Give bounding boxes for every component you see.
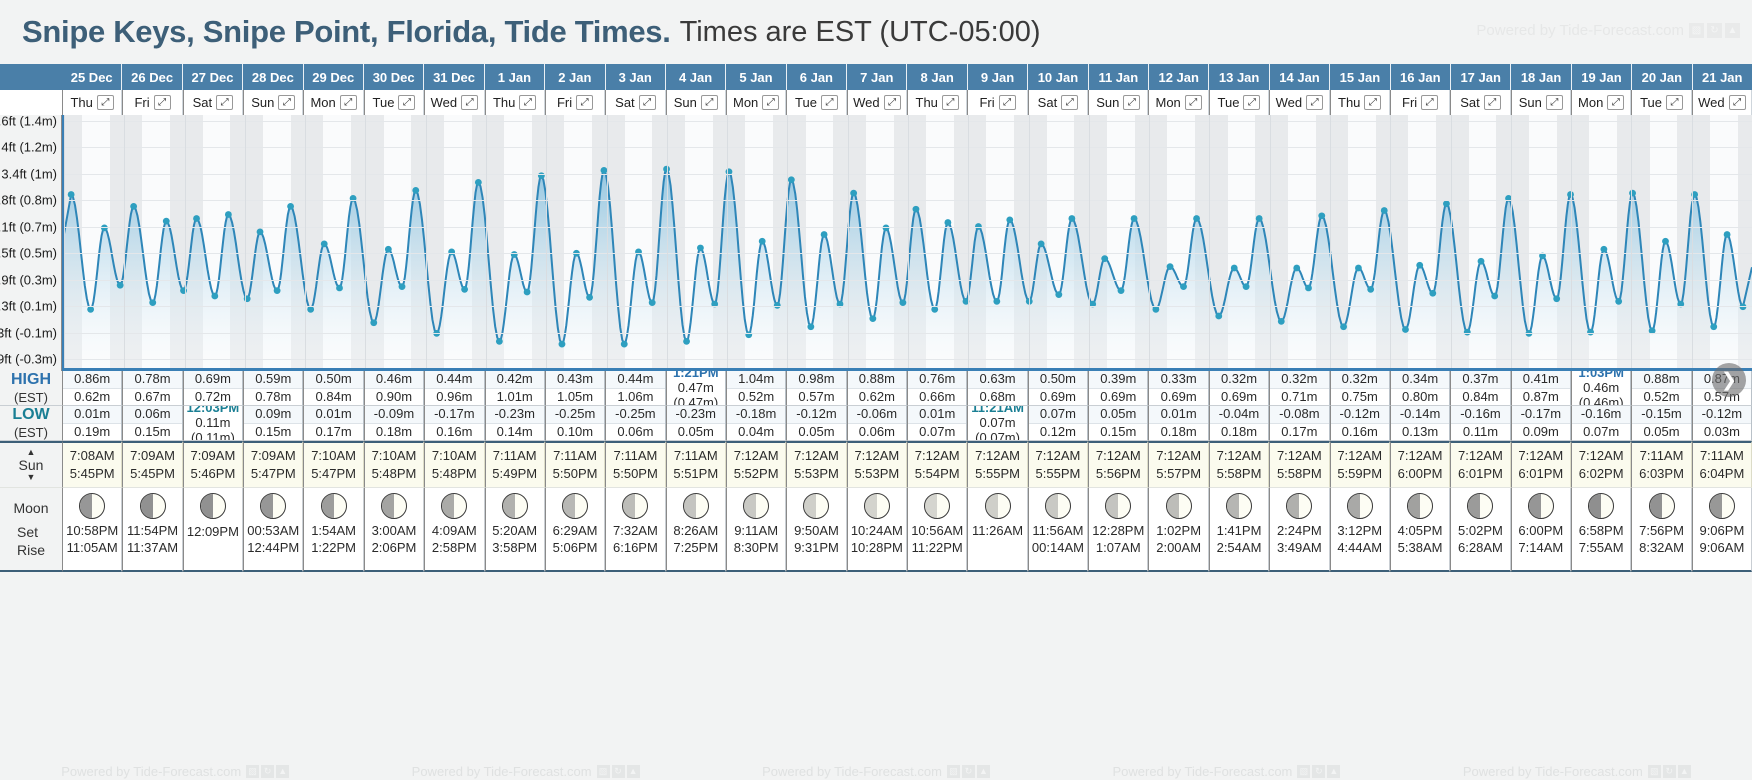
day-divider-line <box>1692 115 1693 368</box>
high-tide-column: 4:01AM0.63m(0.63m)4:32PM0.68m(0.68m) <box>967 371 1027 406</box>
moon-cell: 1:54AM1:22PM <box>303 488 363 572</box>
low-tide-height: 0.18m <box>1221 424 1257 439</box>
tide-extremum-marker[interactable] <box>1118 287 1125 294</box>
low-tide-height-alt: (0.15m) <box>1096 439 1141 440</box>
sunset-time: 6:03PM <box>1639 467 1684 481</box>
sunset-time: 5:53PM <box>854 467 899 481</box>
sun-cell: 7:08AM5:45PM <box>62 441 122 488</box>
low-tide-cell: 1:30AM0.05m(0.05m) <box>1089 406 1147 423</box>
high-tide-cell: 5:14PM0.69m(0.69m) <box>1029 388 1087 406</box>
dow-header-cell[interactable]: Thu⤢ <box>907 90 967 115</box>
expand-icon[interactable]: ⤢ <box>519 95 536 110</box>
tide-extremum-marker[interactable] <box>1055 291 1062 298</box>
dow-header-cell[interactable]: Mon⤢ <box>1571 90 1631 115</box>
expand-icon[interactable]: ⤢ <box>340 95 357 110</box>
tide-extremum-marker[interactable] <box>621 341 628 348</box>
moon-cell: 11:26AM <box>967 488 1027 572</box>
chart-icon: ▧ <box>947 765 960 778</box>
tide-extremum-marker[interactable] <box>883 225 890 232</box>
expand-icon[interactable]: ⤢ <box>1607 95 1624 110</box>
sunrise-time: 7:09AM <box>190 449 235 463</box>
sun-cell: 7:10AM5:47PM <box>303 441 363 488</box>
tide-extremum-marker[interactable] <box>788 176 795 183</box>
date-header-cell[interactable]: 21 Jan <box>1693 64 1752 90</box>
tide-extremum-marker[interactable] <box>149 299 156 306</box>
tide-extremum-marker[interactable] <box>1553 295 1560 302</box>
day-divider-line <box>787 115 788 368</box>
low-tide-height-alt: (0.14m) <box>492 439 537 440</box>
tide-extremum-marker[interactable] <box>697 245 704 252</box>
moonset-time: 3:12PM <box>1337 523 1382 539</box>
tide-extremum-marker[interactable] <box>163 218 170 225</box>
dow-header-cell[interactable]: Thu⤢ <box>485 90 545 115</box>
expand-icon[interactable]: ⤢ <box>1546 95 1563 110</box>
expand-icon[interactable]: ⤢ <box>1061 95 1078 110</box>
date-header-cell[interactable]: 3 Jan <box>606 64 666 90</box>
tide-extremum-marker[interactable] <box>1662 238 1669 245</box>
expand-icon[interactable]: ⤢ <box>461 95 478 110</box>
low-tide-cell: 8:15AM-0.15m(-0.15m) <box>1632 406 1690 423</box>
sunrise-time: 7:10AM <box>432 449 477 463</box>
high-tide-height: 0.42m <box>497 371 533 386</box>
dow-header-cell[interactable]: Thu⤢ <box>62 90 122 115</box>
alert-icon: ▲ <box>1678 765 1691 778</box>
date-header-cell[interactable]: 12 Jan <box>1149 64 1209 90</box>
moon-columns: 10:58PM11:05AM11:54PM11:37AM12:09PM00:53… <box>62 488 1752 572</box>
tide-extremum-marker[interactable] <box>1305 285 1312 292</box>
tide-extremum-marker[interactable] <box>1278 318 1285 325</box>
high-tide-column: 9:07AM0.46m(0.46m)8:01PM0.90m(0.9m) <box>364 371 424 406</box>
tide-chart-plot[interactable] <box>62 115 1752 371</box>
footer-powered-by: Powered by Tide-Forecast.com▧↻▲ <box>1051 764 1401 779</box>
tide-extremum-marker[interactable] <box>496 338 503 345</box>
dow-header-cell[interactable]: Sun⤢ <box>666 90 726 115</box>
low-tide-cell: 6:39AM-0.16m(-0.16m) <box>1451 406 1509 423</box>
day-divider-line <box>1209 115 1210 368</box>
tide-extremum-marker[interactable] <box>1443 200 1450 207</box>
high-tide-cell: 11:05PM0.84m(0.84m) <box>1451 388 1509 406</box>
moonset-time: 4:09AM <box>432 523 477 539</box>
low-tide-height: -0.16m <box>1581 406 1621 421</box>
low-label-tz: (EST) <box>14 425 48 440</box>
high-tide-cell: 7:04PM0.84m(0.84m) <box>304 388 362 406</box>
sunset-time: 5:47PM <box>311 467 356 481</box>
page-footer: Powered by Tide-Forecast.com▧↻▲Powered b… <box>0 762 1752 780</box>
tide-extremum-marker[interactable] <box>869 315 876 322</box>
date-header-cell[interactable]: 27 Dec <box>183 64 243 90</box>
tide-extremum-marker[interactable] <box>1068 215 1075 222</box>
high-tide-height: 0.86m <box>74 371 110 386</box>
moonrise-time: 4:44AM <box>1337 540 1382 556</box>
y-axis-tick: -0.3ft (-0.1m) <box>0 325 57 340</box>
expand-icon[interactable]: ⤢ <box>701 95 718 110</box>
tide-extremum-marker[interactable] <box>370 319 377 326</box>
dow-text: Tue <box>1218 95 1240 110</box>
expand-icon[interactable]: ⤢ <box>821 95 838 110</box>
low-tide-height: -0.23m <box>676 406 716 421</box>
tide-extremum-marker[interactable] <box>913 206 920 213</box>
tide-extremum-marker[interactable] <box>1167 263 1174 270</box>
low-tide-height: 0.15m <box>134 424 170 439</box>
low-tide-cell: 3:43AM-0.04m(-0.04m) <box>1210 406 1268 423</box>
date-header-cell[interactable]: 29 Dec <box>304 64 364 90</box>
high-tide-height: 0.59m <box>255 371 291 386</box>
tide-extremum-marker[interactable] <box>68 191 75 198</box>
tide-extremum-marker[interactable] <box>1293 265 1300 272</box>
tide-extremum-marker[interactable] <box>1381 207 1388 214</box>
tide-extremum-marker[interactable] <box>1193 215 1200 222</box>
date-header-cell[interactable]: 1 Jan <box>485 64 545 90</box>
low-tide-height-alt: (0.11m) <box>191 430 235 440</box>
tide-extremum-marker[interactable] <box>586 294 593 301</box>
date-header-cell[interactable]: 25 Dec <box>62 64 122 90</box>
expand-icon[interactable]: ⤢ <box>639 95 656 110</box>
tide-extremum-marker[interactable] <box>1416 262 1423 269</box>
high-tide-cell: 4:32PM0.68m(0.68m) <box>968 388 1026 406</box>
low-tide-cell: 8:46AM-0.12m(-0.12m) <box>1693 406 1751 423</box>
dow-header-cell[interactable]: Sat⤢ <box>183 90 243 115</box>
expand-icon[interactable]: ⤢ <box>154 95 171 110</box>
date-header-cell[interactable]: 26 Dec <box>122 64 182 90</box>
tide-extremum-marker[interactable] <box>101 225 108 232</box>
dow-header-cell[interactable]: Tue⤢ <box>364 90 424 115</box>
day-divider-line <box>124 115 125 368</box>
refresh-icon: ↻ <box>261 765 274 778</box>
date-header-cell[interactable]: 28 Dec <box>243 64 303 90</box>
sunset-time: 5:47PM <box>251 467 296 481</box>
date-header-cell[interactable]: 4 Jan <box>666 64 726 90</box>
dow-header-cell[interactable]: Tue⤢ <box>786 90 846 115</box>
low-tide-height: 0.06m <box>859 424 895 439</box>
tide-extremum-marker[interactable] <box>993 298 1000 305</box>
tide-extremum-marker[interactable] <box>117 282 124 289</box>
expand-icon[interactable]: ⤢ <box>1123 95 1140 110</box>
tide-extremum-marker[interactable] <box>1256 215 1263 222</box>
moon-phase-icon <box>1105 493 1131 519</box>
date-header-cell[interactable]: 14 Jan <box>1270 64 1330 90</box>
dow-header-cell[interactable]: Fri⤢ <box>122 90 182 115</box>
expand-icon[interactable]: ⤢ <box>942 95 959 110</box>
date-header-cell[interactable]: 7 Jan <box>847 64 907 90</box>
expand-icon[interactable]: ⤢ <box>1484 95 1501 110</box>
dow-header-cell[interactable]: Tue⤢ <box>1209 90 1269 115</box>
tide-extremum-marker[interactable] <box>274 287 281 294</box>
tide-extremum-marker[interactable] <box>461 286 468 293</box>
tide-extremum-marker[interactable] <box>649 299 656 306</box>
high-tide-height-alt: (0.69m) <box>1036 404 1081 405</box>
moonset-time: 3:00AM <box>372 523 417 539</box>
moon-cell: 3:00AM2:06PM <box>364 488 424 572</box>
corner-cell-2 <box>0 90 62 115</box>
tide-extremum-marker[interactable] <box>1215 313 1222 320</box>
moonset-time: 9:11AM <box>734 523 778 539</box>
expand-icon[interactable]: ⤢ <box>1421 95 1438 110</box>
high-tide-height-alt: (0.9m) <box>375 404 413 405</box>
low-tide-height: -0.18m <box>736 406 776 421</box>
tide-extremum-marker[interactable] <box>385 246 392 253</box>
expand-icon[interactable]: ⤢ <box>398 95 415 110</box>
date-header-cell[interactable]: 15 Jan <box>1330 64 1390 90</box>
tide-extremum-marker[interactable] <box>1629 190 1636 197</box>
tide-extremum-marker[interactable] <box>635 249 642 256</box>
high-tide-cell: 11:44AM0.34m(0.34m) <box>1391 371 1449 388</box>
dow-text: Mon <box>733 95 758 110</box>
low-tide-cell: 11:04PM0.07m(0.07m) <box>908 423 966 441</box>
low-tide-column: 1:30AM0.05m(0.05m)12:49PM0.15m(0.15m) <box>1088 406 1148 441</box>
tide-extremum-marker[interactable] <box>225 211 232 218</box>
date-header-cell[interactable]: 11 Jan <box>1089 64 1149 90</box>
tide-extremum-marker[interactable] <box>130 203 137 210</box>
date-header-cell[interactable]: 31 Dec <box>424 64 484 90</box>
footer-powered-by: Powered by Tide-Forecast.com▧↻▲ <box>701 764 1051 779</box>
date-header-cell[interactable]: 17 Jan <box>1451 64 1511 90</box>
tide-extremum-marker[interactable] <box>1101 255 1108 262</box>
tide-extremum-marker[interactable] <box>1243 283 1250 290</box>
day-divider-line <box>1270 115 1271 368</box>
day-divider-line <box>546 115 547 368</box>
tide-extremum-marker[interactable] <box>336 285 343 292</box>
dow-text: Thu <box>70 95 92 110</box>
tide-extremum-marker[interactable] <box>850 190 857 197</box>
tide-extremum-marker[interactable] <box>1180 283 1187 290</box>
moon-cell: 9:11AM8:30PM <box>726 488 786 572</box>
tide-extremum-marker[interactable] <box>1367 286 1374 293</box>
tide-extremum-marker[interactable] <box>683 338 690 345</box>
sunrise-time: 7:12AM <box>1156 449 1201 463</box>
high-tide-column: 12:00PM0.43m(0.43m)10:58PM1.05m(1.05m) <box>545 371 605 406</box>
dow-header-cell[interactable]: Sun⤢ <box>243 90 303 115</box>
expand-icon[interactable]: ⤢ <box>1243 95 1260 110</box>
alert-icon: ▲ <box>276 765 289 778</box>
sun-cell: 7:12AM6:00PM <box>1390 441 1450 488</box>
sun-cell: 7:12AM5:52PM <box>726 441 786 488</box>
date-header-cell[interactable]: 19 Jan <box>1572 64 1632 90</box>
sunset-time: 5:45PM <box>70 467 115 481</box>
low-tide-column: 8:35AM-0.18m(-0.18m)7:58PM0.04m(0.04m) <box>726 406 786 441</box>
dow-header-row: Thu⤢Fri⤢Sat⤢Sun⤢Mon⤢Tue⤢Wed⤢Thu⤢Fri⤢Sat⤢… <box>0 90 1752 115</box>
low-tide-column: 4:37AM-0.08m(-0.08m)3:26PM0.17m(0.17m) <box>1269 406 1329 441</box>
tide-extremum-marker[interactable] <box>759 238 766 245</box>
dow-text: Wed <box>1698 95 1725 110</box>
dow-header-cell[interactable]: Mon⤢ <box>303 90 363 115</box>
high-tide-column: 10:18AM0.44m(0.44m)8:57PM0.96m(0.96m) <box>424 371 484 406</box>
dow-header-cell[interactable]: Wed⤢ <box>1692 90 1752 115</box>
expand-icon[interactable]: ⤢ <box>999 95 1016 110</box>
tide-extremum-marker[interactable] <box>1318 212 1325 219</box>
tide-extremum-marker[interactable] <box>1006 216 1013 223</box>
date-header-cell[interactable]: 6 Jan <box>787 64 847 90</box>
high-tide-height-alt: (1.01m) <box>492 404 537 405</box>
dow-header-cell[interactable]: Sun⤢ <box>1511 90 1571 115</box>
dow-text: Wed <box>1276 95 1303 110</box>
low-tide-column: 10:39AM0.01m(0.01m)11:04PM0.07m(0.07m) <box>907 406 967 441</box>
date-header-cell[interactable]: 13 Jan <box>1209 64 1269 90</box>
expand-icon[interactable]: ⤢ <box>1306 95 1323 110</box>
low-tide-cell: 4:55PM0.13m(0.13m) <box>1391 423 1449 441</box>
tide-extremum-marker[interactable] <box>1429 290 1436 297</box>
moonset-time: 1:02PM <box>1156 523 1201 539</box>
high-tide-cell: 3:10AM0.76m(0.76m) <box>908 371 966 388</box>
date-header-cell[interactable]: 2 Jan <box>545 64 605 90</box>
moon-cell: 3:12PM4:44AM <box>1330 488 1390 572</box>
tide-extremum-marker[interactable] <box>899 299 906 306</box>
low-tide-column: 5:23AM-0.12m(-0.12m)4:13PM0.16m(0.16m) <box>1330 406 1390 441</box>
dow-header-cell[interactable]: Wed⤢ <box>424 90 484 115</box>
sunrise-time: 7:10AM <box>372 449 417 463</box>
sunset-time: 5:56PM <box>1096 467 1141 481</box>
low-tide-column: 00:16AM0.07m(0.07m)12:03PM0.12m(0.12m) <box>1028 406 1088 441</box>
low-tide-column: 6:03AM-0.14m(-0.14m)4:55PM0.13m(0.13m) <box>1390 406 1450 441</box>
chart-icon: ▧ <box>1689 23 1704 38</box>
high-tide-height: 0.62m <box>74 389 110 404</box>
tide-extremum-marker[interactable] <box>821 231 828 238</box>
moonset-time: 5:02PM <box>1458 523 1503 539</box>
dow-text: Fri <box>1402 95 1417 110</box>
tide-extremum-marker[interactable] <box>399 283 406 290</box>
date-header-cell[interactable]: 18 Jan <box>1511 64 1571 90</box>
expand-icon[interactable]: ⤢ <box>216 95 233 110</box>
high-tide-height: 1.04m <box>738 371 774 386</box>
dow-header-cell[interactable]: Fri⤢ <box>545 90 605 115</box>
tide-extremum-marker[interactable] <box>511 251 518 258</box>
dow-header-cell[interactable]: Sun⤢ <box>1088 90 1148 115</box>
tide-extremum-marker[interactable] <box>180 287 187 294</box>
low-tide-height-alt: (0.17m) <box>311 439 356 440</box>
date-header-cell[interactable]: 30 Dec <box>364 64 424 90</box>
high-tide-column: 12:08PM0.37m(0.37m)11:05PM0.84m(0.84m) <box>1450 371 1510 406</box>
tide-extremum-marker[interactable] <box>1478 258 1485 265</box>
dow-header-cell[interactable]: Fri⤢ <box>967 90 1027 115</box>
date-header-cell[interactable]: 8 Jan <box>907 64 967 90</box>
high-tide-time: 1:21PM <box>673 371 719 380</box>
dow-header-cell[interactable]: Sat⤢ <box>605 90 665 115</box>
high-tide-cell: 10:21PM0.80m(0.8m) <box>1391 388 1449 406</box>
expand-icon[interactable]: ⤢ <box>576 95 593 110</box>
sun-cell: 7:09AM5:47PM <box>243 441 303 488</box>
low-tide-height: -0.08m <box>1279 406 1319 421</box>
dow-header-cell[interactable]: Wed⤢ <box>1269 90 1329 115</box>
expand-icon[interactable]: ⤢ <box>762 95 779 110</box>
low-tide-cell: 12:03PM0.12m(0.12m) <box>1029 423 1087 441</box>
expand-icon[interactable]: ⤢ <box>1666 95 1683 110</box>
moon-phase-icon <box>381 493 407 519</box>
moonrise-time: 6:16PM <box>613 540 658 556</box>
tide-extremum-marker[interactable] <box>1355 265 1362 272</box>
tide-extremum-marker[interactable] <box>1724 231 1731 238</box>
date-header-cell[interactable]: 20 Jan <box>1632 64 1692 90</box>
expand-icon[interactable]: ⤢ <box>1364 95 1381 110</box>
dow-text: Sun <box>674 95 697 110</box>
chart-icon: ▧ <box>246 765 259 778</box>
footer-powered-by: Powered by Tide-Forecast.com▧↻▲ <box>0 764 350 779</box>
high-tide-cell: 11:14AM0.42m(0.42m) <box>486 371 544 388</box>
dow-header-cell[interactable]: Tue⤢ <box>1631 90 1691 115</box>
next-days-button[interactable]: ❯ <box>1712 363 1746 397</box>
moonset-time: 6:29AM <box>553 523 598 539</box>
expand-icon[interactable]: ⤢ <box>884 95 901 110</box>
high-tide-height: 0.84m <box>1462 389 1498 404</box>
sunrise-time: 7:12AM <box>1518 449 1563 463</box>
tide-extremum-marker[interactable] <box>193 215 200 222</box>
tide-extremum-marker[interactable] <box>524 289 531 296</box>
tide-extremum-marker[interactable] <box>559 341 566 348</box>
tide-extremum-marker[interactable] <box>1615 298 1622 305</box>
tide-extremum-marker[interactable] <box>1340 323 1347 330</box>
date-header-cell[interactable]: 16 Jan <box>1391 64 1451 90</box>
y-axis-tick: 2.1ft (0.7m) <box>0 219 57 234</box>
low-tide-height-alt: (0.18m) <box>1217 439 1262 440</box>
y-axis-tick: 4.6ft (1.4m) <box>0 114 57 129</box>
low-tide-cell: 10:37AM0.01m(0.01m) <box>63 406 121 423</box>
low-tide-column: 3:43AM-0.04m(-0.04m)2:35PM0.18m(0.18m) <box>1209 406 1269 441</box>
sun-cell: 7:09AM5:45PM <box>122 441 182 488</box>
moon-cell: 6:58PM7:55AM <box>1571 488 1631 572</box>
tide-extremum-marker[interactable] <box>807 323 814 330</box>
dow-header-cell[interactable]: Fri⤢ <box>1390 90 1450 115</box>
dow-text: Tue <box>1640 95 1662 110</box>
expand-icon[interactable]: ⤢ <box>97 95 114 110</box>
date-header-cell[interactable]: 9 Jan <box>968 64 1028 90</box>
low-tide-cell: 3:20AM-0.09m(-0.09m) <box>365 406 423 423</box>
expand-icon[interactable]: ⤢ <box>1729 95 1746 110</box>
tide-extremum-marker[interactable] <box>944 219 951 226</box>
high-label-text: HIGH <box>11 371 51 389</box>
tide-extremum-marker[interactable] <box>412 187 419 194</box>
low-tide-cell: 10:39AM0.01m(0.01m) <box>908 406 966 423</box>
low-tide-column: 7:44AM-0.16m(-0.16m)6:55PM0.07m(0.07m) <box>1571 406 1631 441</box>
low-tide-height: 0.03m <box>1704 424 1740 439</box>
tide-extremum-marker[interactable] <box>257 228 264 235</box>
dow-header-cell[interactable]: Thu⤢ <box>1330 90 1390 115</box>
high-tide-column: 2:21AM0.88m(0.88m)3:14PM0.62m(0.62m) <box>847 371 907 406</box>
dow-header-cell[interactable]: Wed⤢ <box>847 90 907 115</box>
refresh-icon: ↻ <box>612 765 625 778</box>
tide-extremum-marker[interactable] <box>1710 323 1717 330</box>
high-tide-cell: 00:27AM0.88m(0.88m) <box>1632 371 1690 388</box>
date-header-cell[interactable]: 10 Jan <box>1028 64 1088 90</box>
high-tide-column: 3:10AM0.76m(0.76m)3:52PM0.66m(0.66m) <box>907 371 967 406</box>
tide-extremum-marker[interactable] <box>1491 293 1498 300</box>
high-tide-height: 0.88m <box>859 371 895 386</box>
high-tide-column: 11:44AM0.34m(0.34m)10:21PM0.80m(0.8m) <box>1390 371 1450 406</box>
moonrise-time: 5:38AM <box>1398 540 1443 556</box>
tide-extremum-marker[interactable] <box>1231 265 1238 272</box>
dow-header-cell[interactable]: Mon⤢ <box>1148 90 1208 115</box>
date-header-cell[interactable]: 5 Jan <box>726 64 786 90</box>
high-label-tz: (EST) <box>14 390 48 405</box>
tide-extremum-marker[interactable] <box>1038 241 1045 248</box>
moon-cell: 9:06PM9:06AM <box>1692 488 1752 572</box>
dow-header-cell[interactable]: Sat⤢ <box>1450 90 1510 115</box>
dow-header-cell[interactable]: Mon⤢ <box>726 90 786 115</box>
tide-extremum-marker[interactable] <box>1131 215 1138 222</box>
tide-extremum-marker[interactable] <box>211 293 218 300</box>
high-tide-height: 0.90m <box>376 389 412 404</box>
high-tide-height-alt: (0.62m) <box>854 404 899 405</box>
alert-icon: ▲ <box>977 765 990 778</box>
tide-extremum-marker[interactable] <box>448 249 455 256</box>
expand-icon[interactable]: ⤢ <box>278 95 295 110</box>
tide-extremum-marker[interactable] <box>1600 246 1607 253</box>
expand-icon[interactable]: ⤢ <box>1185 95 1202 110</box>
tide-extremum-marker[interactable] <box>475 179 482 186</box>
high-tide-cell: 4:46AM0.69m(0.69m) <box>184 371 242 388</box>
tide-extremum-marker[interactable] <box>287 203 294 210</box>
moon-phase-icon <box>683 493 709 519</box>
dow-header-cell[interactable]: Sat⤢ <box>1028 90 1088 115</box>
tide-extremum-marker[interactable] <box>321 241 328 248</box>
moon-cell: 2:24PM3:49AM <box>1269 488 1329 572</box>
